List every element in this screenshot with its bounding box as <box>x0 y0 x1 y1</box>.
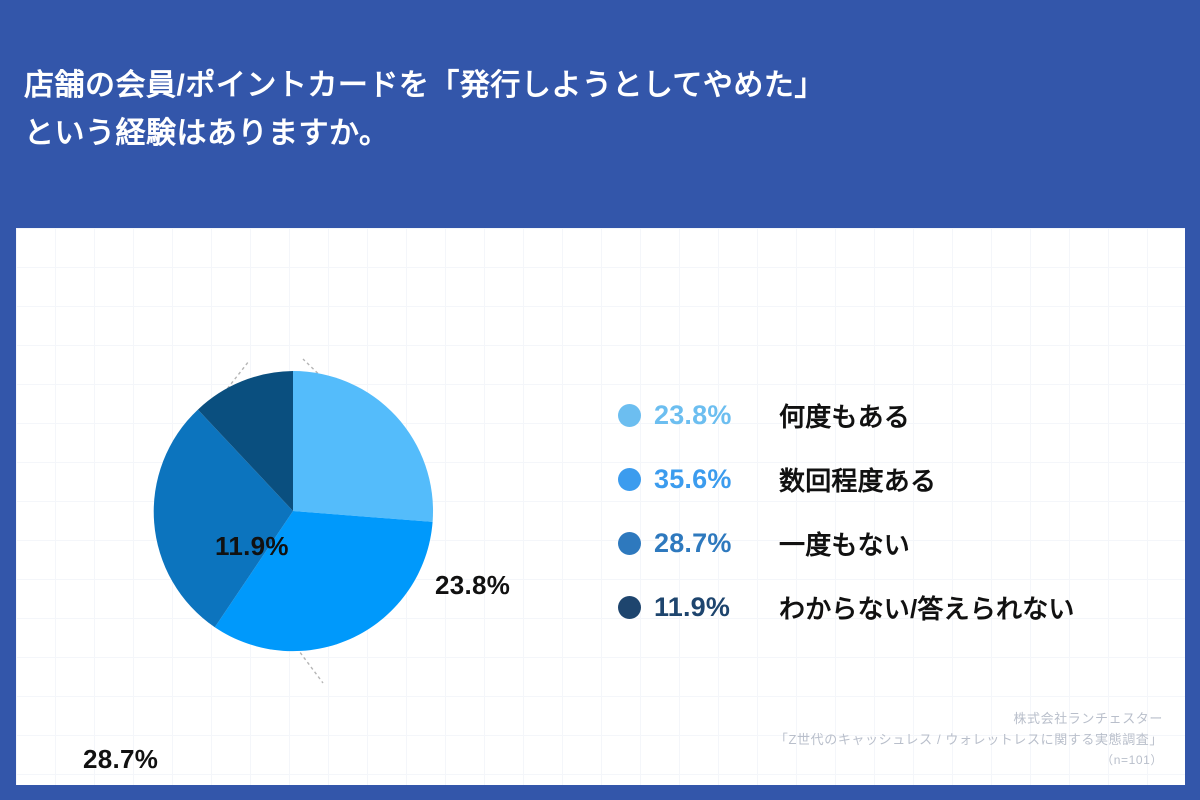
credit-company: 株式会社ランチェスター <box>775 708 1163 729</box>
callout-28-7: 28.7% <box>83 744 158 775</box>
legend-percent: 23.8% <box>654 400 779 431</box>
chart-legend: 23.8% 何度もある 35.6% 数回程度ある 28.7% 一度もない 11.… <box>618 383 1178 639</box>
legend-percent: 35.6% <box>654 464 779 495</box>
credit-survey: 「Z世代のキャッシュレス / ウォレットレスに関する実態調査」 <box>775 729 1163 750</box>
legend-item-何度もある[interactable]: 23.8% 何度もある <box>618 383 1178 447</box>
pie-chart-region: 23.8% 11.9% 28.7% 35.6% <box>16 228 616 785</box>
legend-label: わからない/答えられない <box>779 589 1075 626</box>
legend-item-わからない-答えられない[interactable]: 11.9% わからない/答えられない <box>618 575 1178 639</box>
legend-dot-icon <box>618 404 641 427</box>
chart-card: 23.8% 11.9% 28.7% 35.6% 23.8% 何度もある 35.6… <box>16 228 1185 785</box>
legend-percent: 11.9% <box>654 592 779 623</box>
legend-label: 数回程度ある <box>779 461 936 498</box>
callout-23-8: 23.8% <box>435 570 510 601</box>
credit-sample-size: （n=101） <box>775 750 1163 771</box>
legend-dot-icon <box>618 468 641 491</box>
legend-dot-icon <box>618 532 641 555</box>
legend-item-数回程度ある[interactable]: 35.6% 数回程度ある <box>618 447 1178 511</box>
pie-chart <box>41 353 591 753</box>
legend-dot-icon <box>618 596 641 619</box>
legend-percent: 28.7% <box>654 528 779 559</box>
page-title: 店舗の会員/ポイントカードを「発行しようとしてやめた」 という経験はありますか。 <box>24 62 1144 158</box>
callout-11-9: 11.9% <box>215 531 289 562</box>
page-title-line-1: 店舗の会員/ポイントカードを「発行しようとしてやめた」 <box>24 62 1144 110</box>
legend-label: 一度もない <box>779 525 910 562</box>
legend-label: 何度もある <box>779 397 910 434</box>
pie-slice-何度もある[interactable] <box>293 371 433 522</box>
legend-item-一度もない[interactable]: 28.7% 一度もない <box>618 511 1178 575</box>
page-title-line-2: という経験はありますか。 <box>24 110 1144 158</box>
source-credit: 株式会社ランチェスター 「Z世代のキャッシュレス / ウォレットレスに関する実態… <box>775 708 1163 771</box>
